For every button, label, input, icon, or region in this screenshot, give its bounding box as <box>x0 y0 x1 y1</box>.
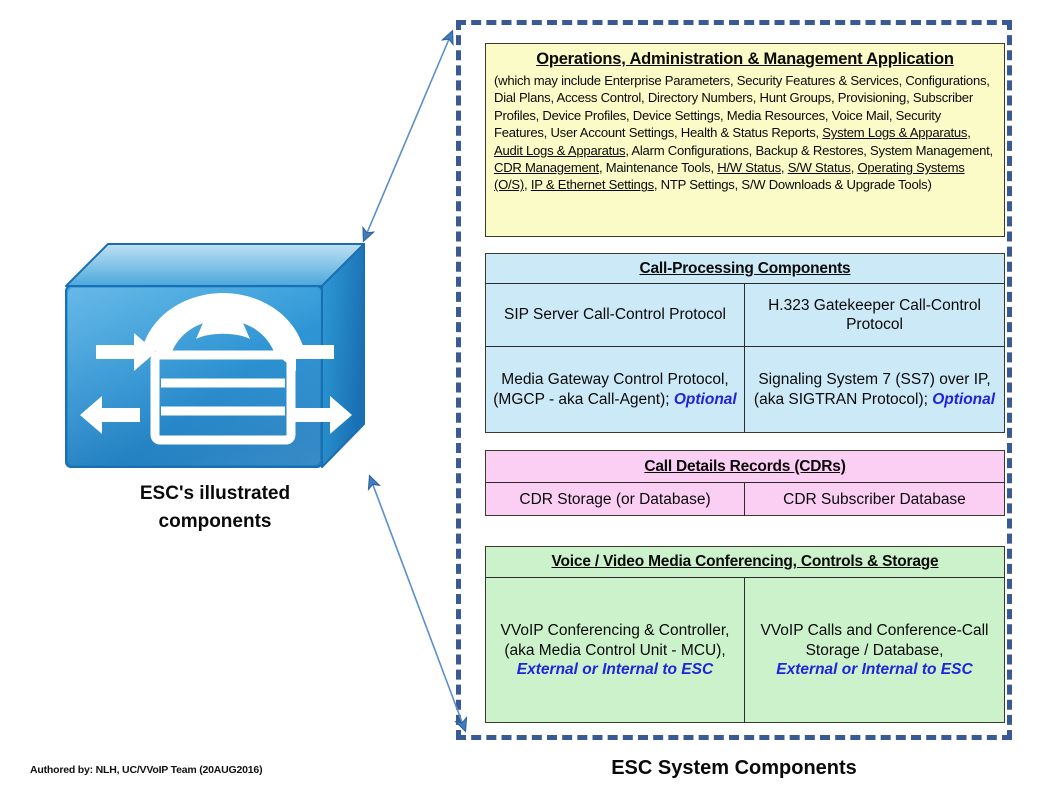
esc-device-caption: ESC's illustrated components <box>20 480 410 535</box>
panel-call-processing-row-1: SIP Server Call-Control Protocol H.323 G… <box>486 284 1004 347</box>
cell-vvoip-conferencing-note: External or Internal to ESC <box>492 660 738 679</box>
cell-h323-gatekeeper-label: H.323 Gatekeeper Call-Control Protocol <box>751 296 998 335</box>
cell-cdr-storage-label: CDR Storage (or Database) <box>492 490 738 509</box>
cell-sip-server: SIP Server Call-Control Protocol <box>486 284 745 346</box>
panel-oam-title: Operations, Administration & Management … <box>494 50 996 69</box>
panel-oam-application: Operations, Administration & Management … <box>485 43 1005 237</box>
cell-vvoip-calls-storage-label: VVoIP Calls and Conference-Call Storage … <box>751 621 998 660</box>
panel-call-details-records: Call Details Records (CDRs) CDR Storage … <box>485 450 1005 516</box>
esc-device-caption-line1: ESC's illustrated <box>20 480 410 508</box>
panel-cdr-title: Call Details Records (CDRs) <box>486 451 1004 483</box>
cell-cdr-subscriber-database-label: CDR Subscriber Database <box>751 490 998 509</box>
panel-media-title: Voice / Video Media Conferencing, Contro… <box>486 547 1004 578</box>
cell-ss7-optional-tag: Optional <box>932 391 995 408</box>
esc-system-components-container: Operations, Administration & Management … <box>456 20 1012 740</box>
cell-mgcp-optional-tag: Optional <box>674 391 737 408</box>
cell-ss7-sigtran: Signaling System 7 (SS7) over IP, (aka S… <box>745 347 1004 432</box>
author-credit: Authored by: NLH, UC/VVoIP Team (20AUG20… <box>30 764 262 776</box>
cell-mgcp: Media Gateway Control Protocol, (MGCP - … <box>486 347 745 432</box>
cell-sip-server-label: SIP Server Call-Control Protocol <box>492 305 738 324</box>
panel-cdr-row: CDR Storage (or Database) CDR Subscriber… <box>486 483 1004 516</box>
cell-vvoip-calls-storage-note: External or Internal to ESC <box>751 660 998 679</box>
panel-call-processing-title: Call-Processing Components <box>486 254 1004 284</box>
panel-call-processing-row-2: Media Gateway Control Protocol, (MGCP - … <box>486 347 1004 432</box>
panel-oam-body: (which may include Enterprise Parameters… <box>494 72 996 194</box>
cell-cdr-subscriber-database: CDR Subscriber Database <box>745 483 1004 516</box>
esc-network-device <box>60 238 370 473</box>
panel-media-row: VVoIP Conferencing & Controller, (aka Me… <box>486 578 1004 723</box>
panel-call-processing: Call-Processing Components SIP Server Ca… <box>485 253 1005 433</box>
esc-device-caption-line2: components <box>20 508 410 536</box>
esc-system-components-title: ESC System Components <box>456 757 1012 780</box>
cell-mgcp-label: Media Gateway Control Protocol, (MGCP - … <box>492 370 738 409</box>
cell-vvoip-conferencing-label: VVoIP Conferencing & Controller, (aka Me… <box>492 621 738 660</box>
panel-media-conferencing: Voice / Video Media Conferencing, Contro… <box>485 546 1005 723</box>
cell-h323-gatekeeper: H.323 Gatekeeper Call-Control Protocol <box>745 284 1004 346</box>
cell-ss7-sigtran-label: Signaling System 7 (SS7) over IP, (aka S… <box>751 370 998 409</box>
cell-cdr-storage: CDR Storage (or Database) <box>486 483 745 516</box>
connector-top-arrow <box>364 32 452 240</box>
cell-vvoip-calls-storage: VVoIP Calls and Conference-Call Storage … <box>745 578 1004 723</box>
cell-vvoip-conferencing: VVoIP Conferencing & Controller, (aka Me… <box>486 578 745 723</box>
